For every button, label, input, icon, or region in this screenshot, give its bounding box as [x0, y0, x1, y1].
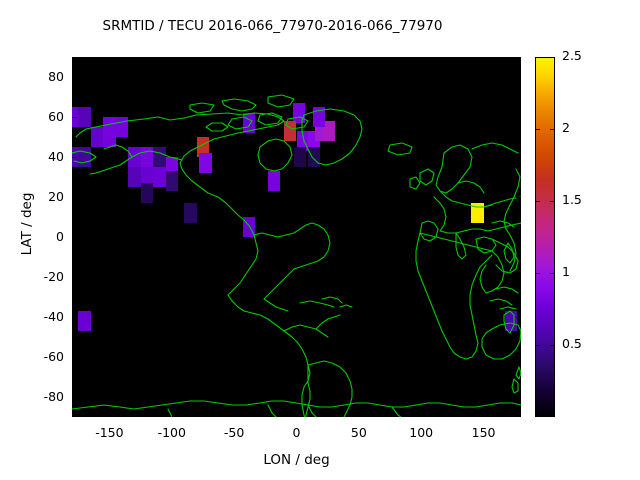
colorbar-tick-mark [535, 57, 540, 58]
y-tick-mark [516, 357, 521, 358]
y-tick-mark [516, 77, 521, 78]
colorbar[interactable] [535, 57, 555, 417]
y-tick-label: 20 [6, 189, 64, 204]
x-tick-label: 150 [454, 425, 514, 440]
x-tick-label: -50 [204, 425, 264, 440]
x-tick-label: 0 [267, 425, 327, 440]
y-tick-mark [72, 77, 77, 78]
colorbar-tick-mark [535, 345, 540, 346]
x-tick-label: 50 [329, 425, 389, 440]
y-tick-label: 0 [6, 229, 64, 244]
x-tick-label: -100 [142, 425, 202, 440]
y-tick-label: 40 [6, 149, 64, 164]
colorbar-tick-mark [550, 201, 555, 202]
x-tick-label: 100 [391, 425, 451, 440]
y-axis-label: LAT / deg [19, 154, 35, 294]
map-plot-area[interactable] [72, 57, 521, 417]
x-tick-mark [297, 57, 298, 62]
colorbar-tick-mark [535, 201, 540, 202]
y-tick-mark [72, 237, 77, 238]
x-tick-mark [172, 57, 173, 62]
coastline-map [72, 57, 521, 417]
x-tick-mark [484, 412, 485, 417]
y-tick-mark [72, 397, 77, 398]
x-tick-mark [421, 57, 422, 62]
x-tick-mark [109, 412, 110, 417]
x-tick-mark [172, 412, 173, 417]
colorbar-tick-mark [550, 273, 555, 274]
y-tick-mark [516, 237, 521, 238]
y-tick-mark [72, 157, 77, 158]
y-tick-mark [516, 397, 521, 398]
y-tick-mark [72, 197, 77, 198]
y-tick-mark [516, 197, 521, 198]
colorbar-tick-label: 1.5 [562, 192, 582, 207]
y-tick-label: 80 [6, 69, 64, 84]
x-tick-mark [484, 57, 485, 62]
y-tick-label: -20 [6, 269, 64, 284]
x-tick-mark [234, 57, 235, 62]
x-tick-mark [359, 412, 360, 417]
colorbar-tick-label: 1 [562, 264, 570, 279]
x-tick-mark [297, 412, 298, 417]
y-tick-label: -80 [6, 389, 64, 404]
colorbar-tick-label: 0.5 [562, 336, 582, 351]
y-tick-mark [516, 157, 521, 158]
x-axis-label: LON / deg [72, 452, 521, 468]
y-tick-mark [516, 317, 521, 318]
colorbar-tick-mark [550, 129, 555, 130]
y-tick-mark [516, 117, 521, 118]
colorbar-tick-mark [550, 345, 555, 346]
colorbar-tick-label: 2.5 [562, 48, 582, 63]
y-tick-label: -40 [6, 309, 64, 324]
y-tick-label: -60 [6, 349, 64, 364]
x-tick-mark [234, 412, 235, 417]
colorbar-tick-mark [550, 57, 555, 58]
x-tick-mark [421, 412, 422, 417]
x-tick-mark [109, 57, 110, 62]
y-tick-label: 60 [6, 109, 64, 124]
y-tick-mark [516, 277, 521, 278]
x-tick-mark [359, 57, 360, 62]
y-tick-mark [72, 357, 77, 358]
colorbar-tick-mark [535, 129, 540, 130]
plot-figure: SRMTID / TECU 2016-066_77970-2016-066_77… [0, 0, 640, 480]
y-tick-mark [72, 117, 77, 118]
y-tick-mark [72, 317, 77, 318]
colorbar-tick-mark [535, 273, 540, 274]
x-tick-label: -150 [79, 425, 139, 440]
page-title: SRMTID / TECU 2016-066_77970-2016-066_77… [0, 18, 545, 34]
y-tick-mark [72, 277, 77, 278]
colorbar-tick-label: 2 [562, 120, 570, 135]
